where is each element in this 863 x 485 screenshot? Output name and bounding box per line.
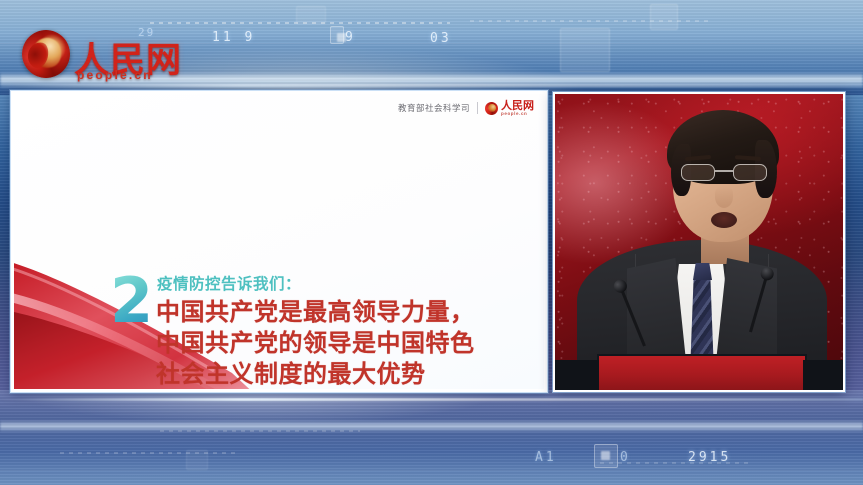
speaker-glasses-icon (681, 164, 767, 182)
broadcast-screen: 29 11 9 9 03 A1 0 2915 人民网 people.cn (0, 0, 863, 485)
slide-header-logo-text: 人民网 people.cn (501, 100, 534, 117)
slide-header-logo-name: 人民网 (501, 100, 534, 111)
decorative-hairline (0, 470, 863, 471)
glasses-lens-left (681, 164, 715, 181)
lower-separator-bar (0, 398, 863, 401)
speaker-video-panel (553, 92, 845, 392)
slide-headline: 中国共产党是最高领导力量， 中国共产党的领导是中国特色 社会主义制度的最大优势 (156, 297, 544, 389)
decorative-tile (650, 4, 678, 30)
channel-logo-url: people.cn (77, 68, 153, 82)
slide-header: 教育部社会科学司 人民网 people.cn (398, 100, 534, 117)
overlay-box-glyph-bottom (594, 444, 618, 468)
decorative-dash-line (150, 22, 450, 24)
slide-headline-line: 中国共产党的领导是中国特色 (156, 328, 544, 359)
overlay-digit-top-mid-a: 11 9 (212, 30, 255, 45)
slide-canvas: 教育部社会科学司 人民网 people.cn 2 疫情防控告诉我们： 中国共产党… (14, 94, 544, 389)
people-cn-swirl-icon-small (485, 102, 498, 115)
overlay-digit-top-mid-b: 9 (345, 30, 356, 45)
overlay-digit-bottom-b: 0 (620, 450, 631, 465)
podium-panel (597, 354, 807, 390)
decorative-dash-line (470, 20, 710, 22)
podium-side-right (803, 360, 843, 390)
decorative-dash-line (160, 430, 360, 432)
glasses-bridge (715, 170, 733, 172)
speaker-necktie-knot (693, 263, 712, 280)
channel-logo: 人民网 people.cn (22, 28, 190, 84)
overlay-box-glyph-top (330, 26, 344, 44)
slide-header-logo-url: people.cn (501, 112, 534, 117)
slide-badge-number: 2 (110, 270, 151, 332)
decorative-dash-line (60, 452, 240, 454)
overlay-digit-bottom-c: 2915 (688, 450, 731, 465)
slide-header-logo: 人民网 people.cn (485, 100, 534, 117)
background-bottom-streak (0, 420, 863, 432)
slide-headline-line: 社会主义制度的最大优势 (156, 359, 544, 389)
slide-headline-line: 中国共产党是最高领导力量， (156, 297, 544, 328)
people-cn-swirl-icon (22, 30, 70, 78)
glasses-lens-right (733, 164, 767, 181)
slide-header-org: 教育部社会科学司 (398, 102, 470, 114)
podium-side-left (555, 360, 599, 390)
overlay-digit-bottom-a: A1 (535, 450, 557, 465)
speaker-nose (715, 186, 733, 208)
overlay-digit-top-right: 03 (430, 31, 452, 46)
presentation-slide-panel: 教育部社会科学司 人民网 people.cn 2 疫情防控告诉我们： 中国共产党… (10, 90, 548, 393)
slide-kicker-text: 疫情防控告诉我们： (157, 272, 301, 294)
decorative-tile (560, 28, 610, 72)
slide-header-divider (477, 102, 478, 114)
upper-separator-bar (0, 84, 863, 87)
speaker-mouth (711, 212, 737, 228)
